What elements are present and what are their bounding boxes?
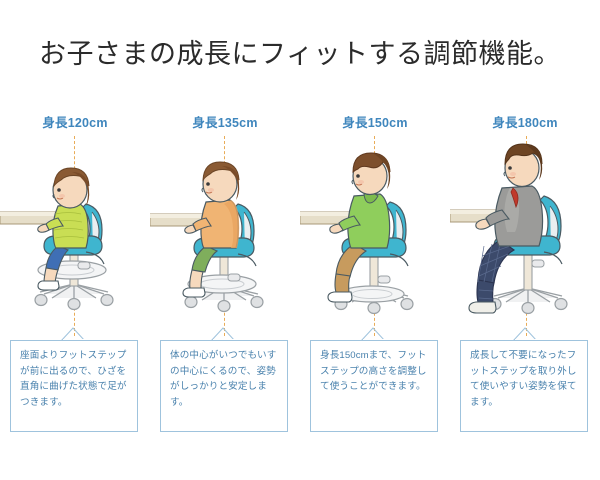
figure-child-135cm <box>150 134 300 339</box>
height-lever-150 <box>378 276 390 283</box>
caption-box-120: 座面よりフットステップが前に出るので、ひざを直角に曲げた状態で足がつきます。 <box>10 340 138 432</box>
caption-box-135: 体の中心がいつでもいすの中心にくるので、姿勢がしっかりと安定します。 <box>160 340 288 432</box>
column-120cm: 身長120cm <box>0 112 150 452</box>
height-lever-120 <box>78 262 90 269</box>
teen-head-150 <box>352 153 390 195</box>
column-150cm: 身長150cm <box>300 112 450 452</box>
adult-legs-180 <box>469 240 514 313</box>
chair-cylinder-180 <box>524 254 532 290</box>
figure-teen-150cm <box>300 134 450 339</box>
column-135cm: 身長135cm <box>150 112 300 452</box>
height-label-135: 身長135cm <box>150 112 300 131</box>
child-head-135 <box>202 162 239 202</box>
adult-head-180 <box>504 144 542 187</box>
height-lever-135 <box>228 274 240 281</box>
height-label-120: 身長120cm <box>0 112 150 131</box>
page-title: お子さまの成長にフィットする調節機能。 <box>0 40 600 70</box>
height-lever-180 <box>532 260 544 267</box>
chair-cylinder-150 <box>370 256 378 290</box>
column-180cm: 身長180cm <box>450 112 600 452</box>
figure-adult-180cm <box>450 134 600 339</box>
child-head-120 <box>53 168 89 208</box>
height-label-150: 身長150cm <box>300 112 450 131</box>
infographic-page: お子さまの成長にフィットする調節機能。 身長120cm <box>0 0 600 480</box>
height-label-180: 身長180cm <box>450 112 600 131</box>
caption-box-150: 身長150cmまで、フットステップの高さを調整して使うことができます。 <box>310 340 438 432</box>
height-comparison-columns: 身長120cm <box>0 112 600 452</box>
caption-box-180: 成長して不要になったフットステップを取り外して使いやすい姿勢を保てます。 <box>460 340 588 432</box>
figure-child-120cm <box>0 134 150 339</box>
